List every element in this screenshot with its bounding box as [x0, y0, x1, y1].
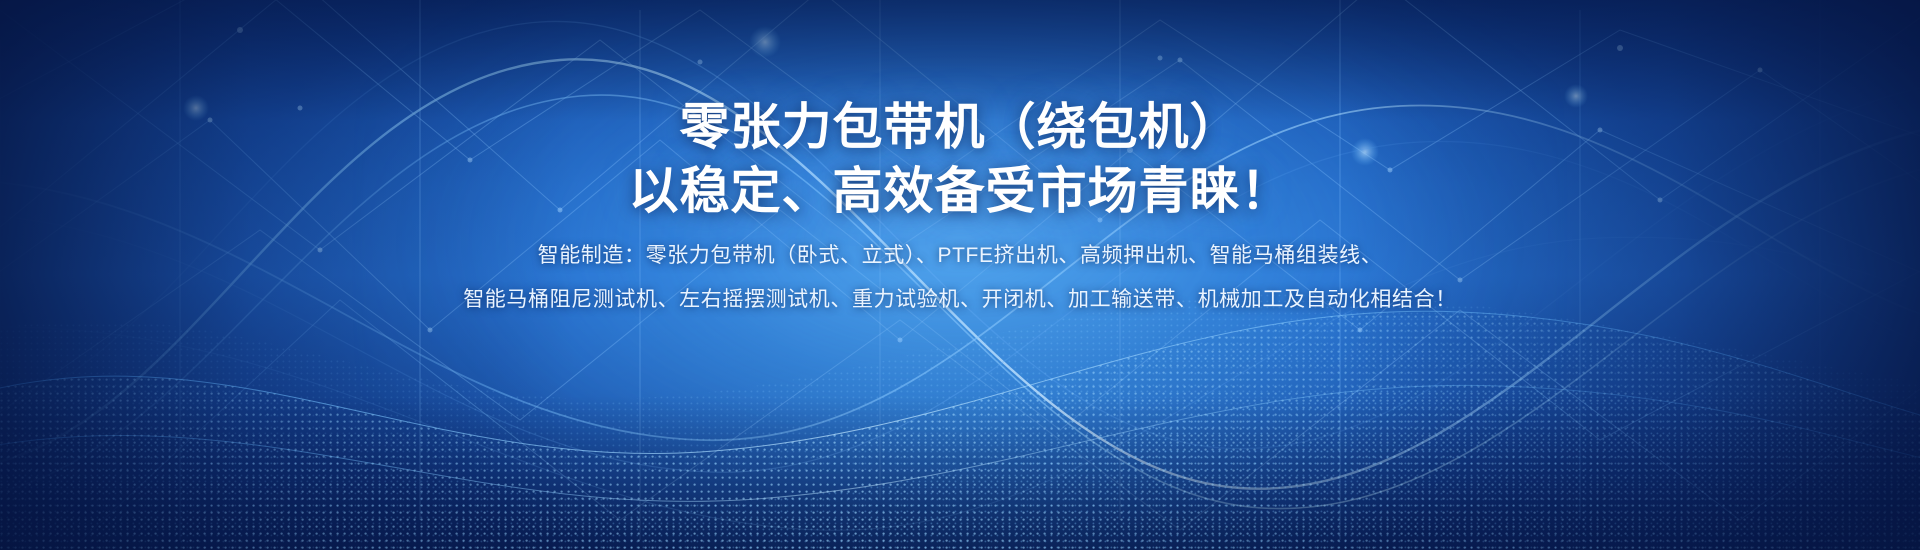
banner-title-line-1: 零张力包带机（绕包机） [680, 98, 1241, 156]
banner-content: 零张力包带机（绕包机） 以稳定、高效备受市场青睐！ 智能制造：零张力包带机（卧式… [0, 0, 1920, 550]
banner-subtitle-line-2: 智能马桶阻尼测试机、左右摇摆测试机、重力试验机、开闭机、加工输送带、机械加工及自… [463, 278, 1457, 322]
banner-subtitle-line-1: 智能制造：零张力包带机（卧式、立式）、PTFE挤出机、高频押出机、智能马桶组装线… [538, 234, 1383, 278]
banner-title-line-2: 以稳定、高效备受市场青睐！ [629, 162, 1292, 220]
hero-banner: 零张力包带机（绕包机） 以稳定、高效备受市场青睐！ 智能制造：零张力包带机（卧式… [0, 0, 1920, 550]
